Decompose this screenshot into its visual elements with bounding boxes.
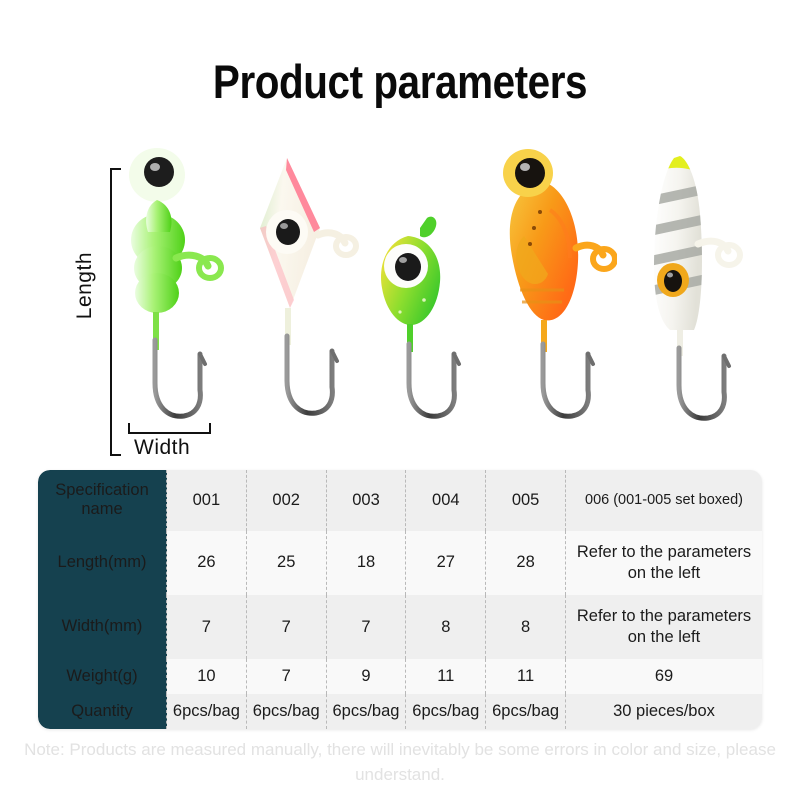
cell-width-001: 7 [167, 595, 247, 659]
cell-spec-004: 004 [406, 470, 486, 531]
cell-spec-005: 005 [486, 470, 566, 531]
cell-length-003: 18 [326, 531, 406, 595]
cell-quantity-004: 6pcs/bag [406, 694, 486, 729]
product-image-003 [362, 140, 480, 430]
cell-spec-003: 003 [326, 470, 406, 531]
cell-weight-002: 7 [246, 659, 326, 694]
cell-width-003: 7 [326, 595, 406, 659]
cell-quantity-006: 30 pieces/box [566, 694, 763, 729]
specification-table-container: Specification name 001 002 003 004 005 0… [38, 470, 762, 729]
cell-length-002: 25 [246, 531, 326, 595]
cell-spec-002: 002 [246, 470, 326, 531]
cell-width-004: 8 [406, 595, 486, 659]
cell-width-006: Refer to the parameters on the left [566, 595, 763, 659]
specification-table: Specification name 001 002 003 004 005 0… [38, 470, 762, 729]
cell-weight-005: 11 [486, 659, 566, 694]
table-row-width: Width(mm) 7 7 7 8 8 Refer to the paramet… [38, 595, 762, 659]
table-row-specification-name: Specification name 001 002 003 004 005 0… [38, 470, 762, 531]
length-dimension-label: Length [73, 252, 97, 319]
row-header-quantity: Quantity [38, 694, 167, 729]
cell-weight-004: 11 [406, 659, 486, 694]
cell-length-006: Refer to the parameters on the left [566, 531, 763, 595]
cell-spec-006: 006 (001-005 set boxed) [566, 470, 763, 531]
table-row-length: Length(mm) 26 25 18 27 28 Refer to the p… [38, 531, 762, 595]
cell-width-002: 7 [246, 595, 326, 659]
product-image-001 [112, 140, 230, 430]
cell-length-004: 27 [406, 531, 486, 595]
row-header-weight: Weight(g) [38, 659, 167, 694]
table-row-weight: Weight(g) 10 7 9 11 11 69 [38, 659, 762, 694]
product-image-002 [242, 140, 360, 430]
cell-spec-001: 001 [167, 470, 247, 531]
cell-weight-003: 9 [326, 659, 406, 694]
cell-weight-006: 69 [566, 659, 763, 694]
disclaimer-note: Note: Products are measured manually, th… [0, 738, 800, 787]
row-header-specification-name: Specification name [38, 470, 167, 531]
cell-weight-001: 10 [167, 659, 247, 694]
cell-quantity-005: 6pcs/bag [486, 694, 566, 729]
product-image-004 [492, 140, 617, 430]
cell-length-001: 26 [167, 531, 247, 595]
cell-quantity-001: 6pcs/bag [167, 694, 247, 729]
cell-width-005: 8 [486, 595, 566, 659]
width-dimension-label: Width [134, 436, 190, 460]
table-row-quantity: Quantity 6pcs/bag 6pcs/bag 6pcs/bag 6pcs… [38, 694, 762, 729]
page-title-container: Product parameters [0, 58, 800, 105]
product-photo-area: Length Width [0, 140, 800, 465]
row-header-width: Width(mm) [38, 595, 167, 659]
cell-quantity-003: 6pcs/bag [326, 694, 406, 729]
row-header-length: Length(mm) [38, 531, 167, 595]
cell-length-005: 28 [486, 531, 566, 595]
page-title: Product parameters [56, 58, 744, 105]
product-image-005 [632, 140, 757, 430]
cell-quantity-002: 6pcs/bag [246, 694, 326, 729]
